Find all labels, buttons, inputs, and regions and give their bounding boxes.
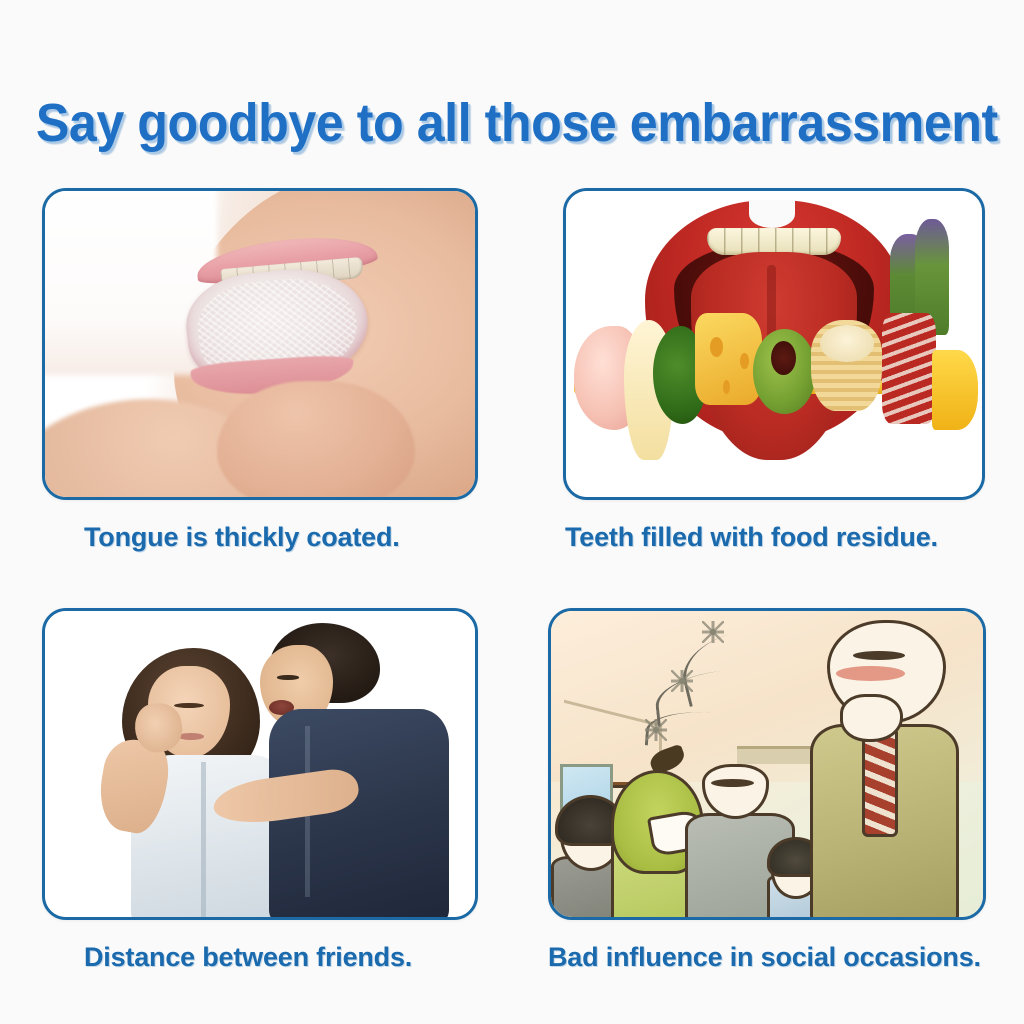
card-caption-social-occasions: Bad influence in social occasions. xyxy=(548,942,986,973)
main-man-hand-covering-mouth xyxy=(840,694,902,743)
card-tongue-coated: Tongue is thickly coated. xyxy=(42,188,480,553)
chin-shape xyxy=(217,381,415,500)
card-social-occasions: Bad influence in social occasions. xyxy=(548,608,986,973)
bread-food-icon xyxy=(811,320,882,412)
crowd-cartoon-illustration xyxy=(551,611,983,917)
bystander-center-face xyxy=(702,764,768,819)
card-food-residue: Teeth filled with food residue. xyxy=(563,188,1001,553)
lip-notch-shape xyxy=(749,200,795,228)
man-eye-shape xyxy=(277,675,299,680)
coated-tongue-photo xyxy=(45,191,475,497)
olive-food-icon xyxy=(753,329,815,415)
image-frame xyxy=(42,608,478,920)
image-frame xyxy=(42,188,478,500)
bacon-food-icon xyxy=(882,313,936,423)
card-caption-friend-distance: Distance between friends. xyxy=(42,942,480,973)
sparkle-icon-3 xyxy=(650,724,662,736)
card-caption-food-residue: Teeth filled with food residue. xyxy=(563,522,1001,553)
card-friend-distance: Distance between friends. xyxy=(42,608,480,973)
image-frame xyxy=(563,188,985,500)
sparkle-icon xyxy=(707,626,719,638)
image-frame xyxy=(548,608,986,920)
upper-teeth-shape xyxy=(707,228,840,256)
main-man-eyes xyxy=(853,651,905,660)
sparkle-icon-2 xyxy=(676,675,688,687)
woman-eye-shape xyxy=(174,703,204,708)
cheese-food-icon xyxy=(695,313,762,405)
card-caption-tongue-coated: Tongue is thickly coated. xyxy=(42,522,480,553)
yellow-fan-shape xyxy=(932,350,978,430)
main-man-tie xyxy=(862,727,898,837)
mouth-food-skewer-illustration xyxy=(566,191,982,497)
couple-bad-breath-photo xyxy=(45,611,475,917)
benefit-card-grid: Tongue is thickly coated. xyxy=(0,0,1024,1024)
